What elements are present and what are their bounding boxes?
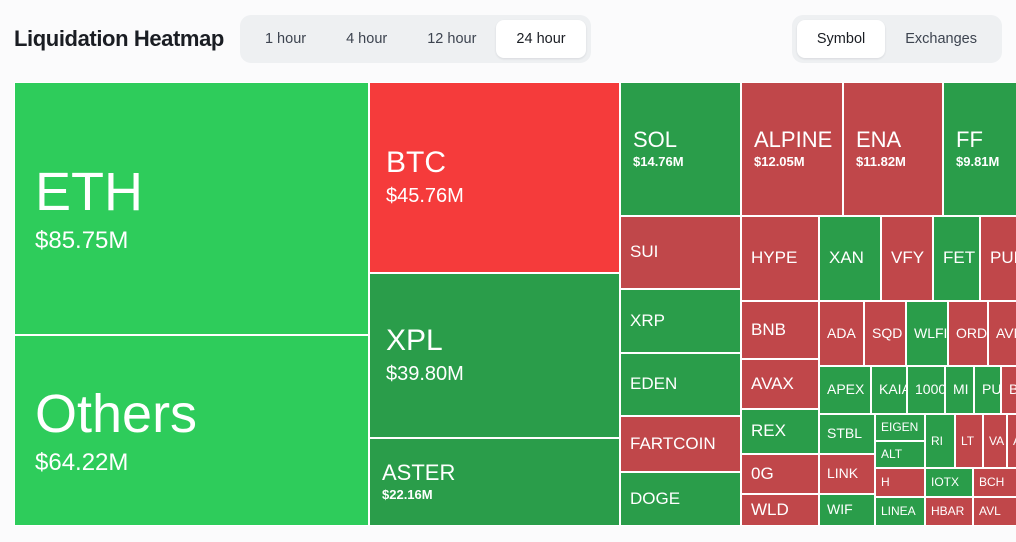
treemap-tile-hbar[interactable]: HBAR (925, 497, 973, 526)
tile-symbol: ENA (844, 128, 942, 152)
treemap-tile-doge[interactable]: DOGE (620, 472, 741, 526)
treemap-tile-fet[interactable]: FET (933, 216, 980, 301)
treemap-tile-alpine[interactable]: ALPINE$12.05M (741, 82, 843, 216)
tab-symbol[interactable]: Symbol (797, 20, 885, 58)
tile-symbol: REX (742, 422, 818, 440)
tile-symbol: ADA (820, 326, 863, 341)
tile-symbol: ORDI (949, 326, 987, 341)
treemap-tile-wlfi[interactable]: WLFI (906, 301, 948, 366)
treemap-tile-eigen[interactable]: EIGEN (875, 414, 925, 441)
treemap-tile-btc[interactable]: BTC$45.76M (369, 82, 620, 273)
tile-symbol: STBL (820, 426, 874, 441)
treemap-tile-bnb[interactable]: BNB (741, 301, 819, 359)
treemap-tile-0g[interactable]: 0G (741, 454, 819, 494)
treemap-tile-avax[interactable]: AVAX (741, 359, 819, 409)
tile-symbol: A (1008, 435, 1016, 448)
view-tab-group: SymbolExchanges (792, 15, 1002, 63)
tile-symbol: PU (975, 382, 1000, 397)
treemap-tile-mi[interactable]: MI (945, 366, 974, 414)
treemap-tile-pu[interactable]: PU (974, 366, 1001, 414)
treemap-tile-stbl[interactable]: STBL (819, 414, 875, 454)
tile-symbol: XPL (370, 325, 619, 357)
treemap-tile-ena[interactable]: ENA$11.82M (843, 82, 943, 216)
tab-12-hour[interactable]: 12 hour (407, 20, 496, 58)
tile-symbol: FARTCOIN (621, 435, 740, 453)
tile-value: $39.80M (370, 358, 619, 386)
treemap-tile-others[interactable]: Others$64.22M (14, 335, 369, 526)
tile-symbol: IOTX (926, 476, 972, 489)
tab-exchanges[interactable]: Exchanges (885, 20, 997, 58)
tile-symbol: ALPINE (742, 128, 842, 152)
tile-value: $12.05M (742, 151, 842, 170)
treemap-tile-fartcoin[interactable]: FARTCOIN (620, 416, 741, 472)
tile-symbol: VFY (882, 249, 932, 267)
treemap-tile-eden[interactable]: EDEN (620, 353, 741, 416)
treemap-tile-kaia[interactable]: KAIA (871, 366, 907, 414)
tile-symbol: WIF (820, 502, 874, 517)
tile-value: $85.75M (15, 221, 368, 255)
tab-24-hour[interactable]: 24 hour (496, 20, 585, 58)
treemap-tile-ff[interactable]: FF$9.81M (943, 82, 1016, 216)
treemap-tile-vfy[interactable]: VFY (881, 216, 933, 301)
tile-symbol: WLD (742, 501, 818, 519)
tile-symbol: HBAR (926, 505, 972, 518)
tile-symbol: H (876, 476, 924, 489)
tile-symbol: ETH (15, 163, 368, 221)
tile-symbol: EDEN (621, 375, 740, 393)
header: Liquidation Heatmap 1 hour4 hour12 hour2… (0, 0, 1016, 78)
tile-symbol: FET (934, 249, 979, 267)
tab-4-hour[interactable]: 4 hour (326, 20, 407, 58)
treemap-tile-iotx[interactable]: IOTX (925, 468, 973, 497)
tile-symbol: SQD (865, 326, 905, 341)
tile-value: $11.82M (844, 151, 942, 170)
tile-value: $14.76M (621, 151, 740, 170)
treemap-tile-ada[interactable]: ADA (819, 301, 864, 366)
treemap-tile-ordi[interactable]: ORDI (948, 301, 988, 366)
tile-symbol: BA (1002, 382, 1016, 397)
tile-symbol: LINEA (876, 505, 924, 518)
tile-value: $45.76M (370, 180, 619, 208)
treemap-tile-xpl[interactable]: XPL$39.80M (369, 273, 620, 438)
treemap-tile-linea[interactable]: LINEA (875, 497, 925, 526)
tile-symbol: AVNT (989, 326, 1016, 341)
tab-1-hour[interactable]: 1 hour (245, 20, 326, 58)
treemap-tile-1000[interactable]: 1000 (907, 366, 945, 414)
treemap-tile-avl[interactable]: AVL (973, 497, 1016, 526)
tile-symbol: WLFI (907, 326, 947, 341)
page-title: Liquidation Heatmap (14, 26, 224, 52)
tile-symbol: MI (946, 382, 973, 397)
tile-symbol: 1000 (908, 382, 944, 397)
treemap-tile-ri[interactable]: RI (925, 414, 955, 468)
tile-value: $22.16M (370, 484, 619, 503)
treemap-tile-lt[interactable]: LT (955, 414, 983, 468)
tile-symbol: BCH (974, 476, 1016, 489)
treemap-tile-sui[interactable]: SUI (620, 216, 741, 289)
tile-value: $64.22M (15, 443, 368, 477)
treemap-tile-rex[interactable]: REX (741, 409, 819, 454)
treemap-tile-h[interactable]: H (875, 468, 925, 497)
treemap-tile-sqd[interactable]: SQD (864, 301, 906, 366)
tile-symbol: ALT (876, 448, 924, 461)
tile-symbol: LINK (820, 466, 874, 481)
tile-symbol: Others (15, 385, 368, 443)
tile-symbol: PUMP (981, 249, 1016, 267)
tile-value: $9.81M (944, 151, 1016, 170)
treemap-chart: ETH$85.75MOthers$64.22MBTC$45.76MXPL$39.… (14, 82, 1016, 526)
tile-symbol: BNB (742, 321, 818, 339)
treemap-tile-ba[interactable]: BA (1001, 366, 1016, 414)
treemap-tile-wif[interactable]: WIF (819, 494, 875, 526)
tile-symbol: VA (984, 435, 1006, 448)
tile-symbol: DOGE (621, 490, 740, 508)
tile-symbol: SOL (621, 128, 740, 152)
treemap-tile-xan[interactable]: XAN (819, 216, 881, 301)
tile-symbol: ASTER (370, 461, 619, 485)
tile-symbol: XAN (820, 249, 880, 267)
tile-symbol: KAIA (872, 382, 906, 397)
tile-symbol: AVL (974, 505, 1016, 518)
tile-symbol: LT (956, 435, 982, 448)
treemap-tile-apex[interactable]: APEX (819, 366, 871, 414)
tile-symbol: EIGEN (876, 421, 924, 434)
treemap-tile-alt[interactable]: ALT (875, 441, 925, 468)
treemap-tile-a[interactable]: A (1007, 414, 1016, 468)
tile-symbol: HYPE (742, 249, 818, 267)
liquidation-heatmap-app: Liquidation Heatmap 1 hour4 hour12 hour2… (0, 0, 1016, 542)
tile-symbol: RI (926, 435, 954, 448)
tile-symbol: SUI (621, 243, 740, 261)
treemap-tile-pump[interactable]: PUMP (980, 216, 1016, 301)
tile-symbol: AVAX (742, 375, 818, 393)
treemap-tile-wld[interactable]: WLD (741, 494, 819, 526)
treemap-tile-xrp[interactable]: XRP (620, 289, 741, 353)
treemap-tile-avnt[interactable]: AVNT (988, 301, 1016, 366)
treemap-tile-va[interactable]: VA (983, 414, 1007, 468)
treemap-tile-aster[interactable]: ASTER$22.16M (369, 438, 620, 526)
treemap-tile-eth[interactable]: ETH$85.75M (14, 82, 369, 335)
tile-symbol: FF (944, 128, 1016, 152)
treemap-tile-hype[interactable]: HYPE (741, 216, 819, 301)
tile-symbol: BTC (370, 147, 619, 179)
treemap-tile-sol[interactable]: SOL$14.76M (620, 82, 741, 216)
treemap-tile-bch[interactable]: BCH (973, 468, 1016, 497)
timeframe-tab-group: 1 hour4 hour12 hour24 hour (240, 15, 591, 63)
tile-symbol: 0G (742, 465, 818, 483)
tile-symbol: APEX (820, 382, 870, 397)
tile-symbol: XRP (621, 312, 740, 330)
treemap-tile-link[interactable]: LINK (819, 454, 875, 494)
